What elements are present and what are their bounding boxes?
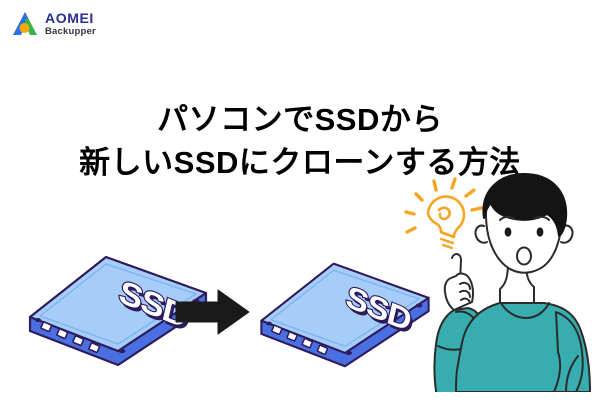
illustration-area: SSD SSD	[0, 170, 600, 400]
brand-name: AOMEI	[45, 11, 96, 25]
brand-product: Backupper	[45, 27, 96, 37]
banner-root: AOMEI Backupper パソコンでSSDから 新しいSSDにクローンする…	[0, 0, 600, 400]
right-arrow-icon	[174, 288, 252, 341]
lightbulb-idea-icon	[406, 179, 481, 248]
brand-wordmark: AOMEI Backupper	[45, 11, 96, 37]
headline-line-1: パソコンでSSDから	[0, 99, 600, 142]
person-pointing-icon	[398, 170, 600, 397]
brand-logo[interactable]: AOMEI Backupper	[10, 9, 96, 39]
aomei-triangle-icon	[10, 9, 40, 39]
